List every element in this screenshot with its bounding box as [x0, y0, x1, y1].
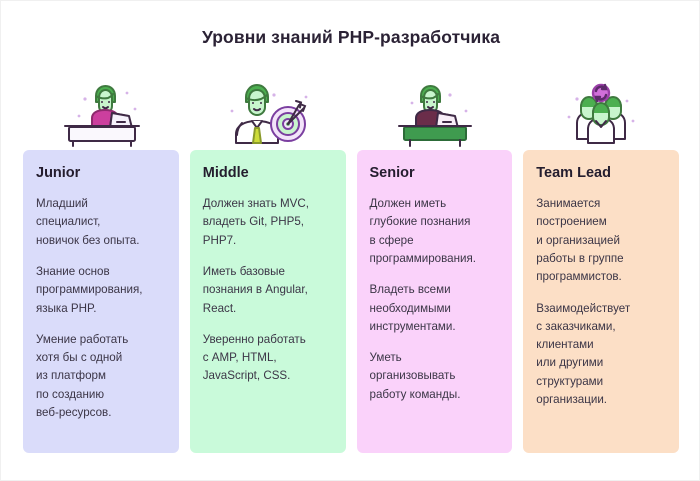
- icon-row: [23, 79, 679, 147]
- level-card-senior[interactable]: Senior Должен иметь глубокие познания в …: [357, 150, 513, 453]
- infographic-page: Уровни знаний PHP-разработчика: [0, 0, 700, 481]
- team-group-icon: [555, 83, 647, 147]
- developer-with-target-icon: [222, 83, 314, 147]
- developer-at-desk-icon: [55, 83, 147, 147]
- level-paragraph: Уверенно работать с AMP, HTML, JavaScrip…: [203, 331, 333, 386]
- senior-at-green-desk-icon: [388, 83, 480, 147]
- icon-cell-middle: [190, 79, 346, 147]
- level-title-senior: Senior: [370, 166, 500, 182]
- icon-cell-teamlead: [523, 79, 679, 147]
- level-paragraph: Должен знать MVC, владеть Git, PHP5, PHP…: [203, 195, 333, 250]
- level-paragraph: Иметь базовые познания в Angular, React.: [203, 263, 333, 318]
- level-card-teamlead[interactable]: Team Lead Занимается построением и орган…: [523, 150, 679, 453]
- level-paragraph: Взаимодействует с заказчиками, клиентами…: [536, 300, 666, 410]
- level-paragraph: Должен иметь глубокие познания в сфере п…: [370, 195, 500, 268]
- level-title-middle: Middle: [203, 166, 333, 182]
- level-paragraph: Умение работать хотя бы с одной из платф…: [36, 331, 166, 423]
- icon-cell-junior: [23, 79, 179, 147]
- level-paragraph: Младший специалист, новичок без опыта.: [36, 195, 166, 250]
- level-paragraph: Знание основ программирования, языка PHP…: [36, 263, 166, 318]
- level-title-teamlead: Team Lead: [536, 166, 666, 182]
- level-paragraph: Занимается построением и организацией ра…: [536, 195, 666, 287]
- page-title: Уровни знаний PHP-разработчика: [1, 27, 700, 48]
- level-title-junior: Junior: [36, 166, 166, 182]
- level-card-middle[interactable]: Middle Должен знать MVC, владеть Git, PH…: [190, 150, 346, 453]
- icon-cell-senior: [357, 79, 513, 147]
- level-paragraph: Уметь организовывать работу команды.: [370, 349, 500, 404]
- level-paragraph: Владеть всеми необходимыми инструментами…: [370, 281, 500, 336]
- level-card-junior[interactable]: Junior Младший специалист, новичок без о…: [23, 150, 179, 453]
- levels-card-row: Junior Младший специалист, новичок без о…: [23, 150, 679, 453]
